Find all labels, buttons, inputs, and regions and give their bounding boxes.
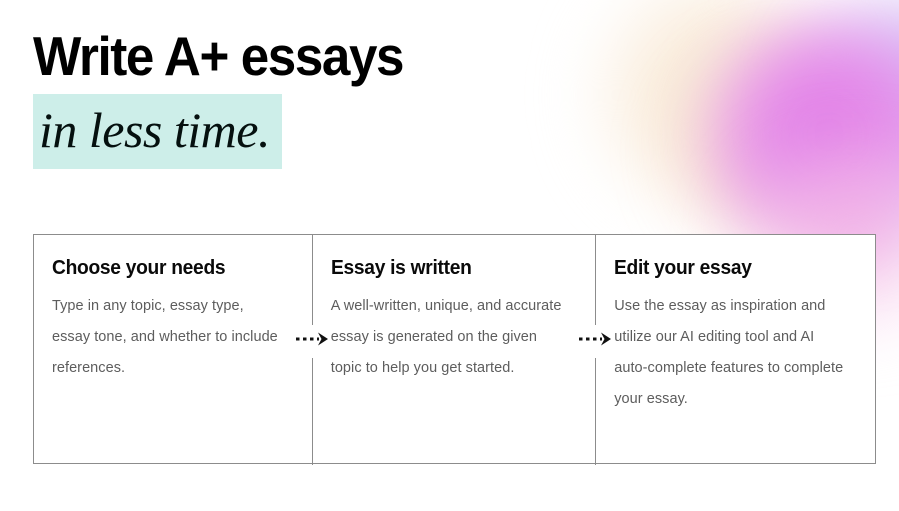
steps-panel: Choose your needs Type in any topic, ess… — [33, 234, 876, 464]
step-title: Essay is written — [331, 255, 565, 281]
headline-line-2-highlighted: in less time. — [33, 94, 282, 169]
step-card-essay-is-written: Essay is written A well-written, unique,… — [313, 235, 597, 463]
headline: Write A+ essays in less time. — [33, 26, 431, 169]
step-description: Type in any topic, essay type, essay ton… — [52, 291, 284, 384]
gradient-blob-decoration — [549, 0, 899, 270]
gradient-blob-magenta — [699, 10, 899, 260]
arrow-step1-to-step2 — [295, 331, 331, 347]
step-description: Use the essay as inspiration and utilize… — [614, 291, 850, 415]
headline-line-2-wrapper: in less time. — [33, 94, 282, 169]
arrow-step2-to-step3 — [578, 331, 614, 347]
step-description: A well-written, unique, and accurate ess… — [331, 291, 571, 384]
headline-line-1: Write A+ essays — [33, 26, 403, 86]
promo-page: Write A+ essays in less time. Choose you… — [0, 0, 899, 511]
step-title: Choose your needs — [52, 255, 281, 281]
gradient-blob-lavender — [799, 0, 899, 250]
step-title: Edit your essay — [614, 255, 843, 281]
step-card-edit-your-essay: Edit your essay Use the essay as inspira… — [596, 235, 875, 463]
gradient-blob-peach — [669, 50, 899, 250]
gradient-blob-cream — [589, 0, 849, 220]
step-card-choose-your-needs: Choose your needs Type in any topic, ess… — [34, 235, 313, 463]
